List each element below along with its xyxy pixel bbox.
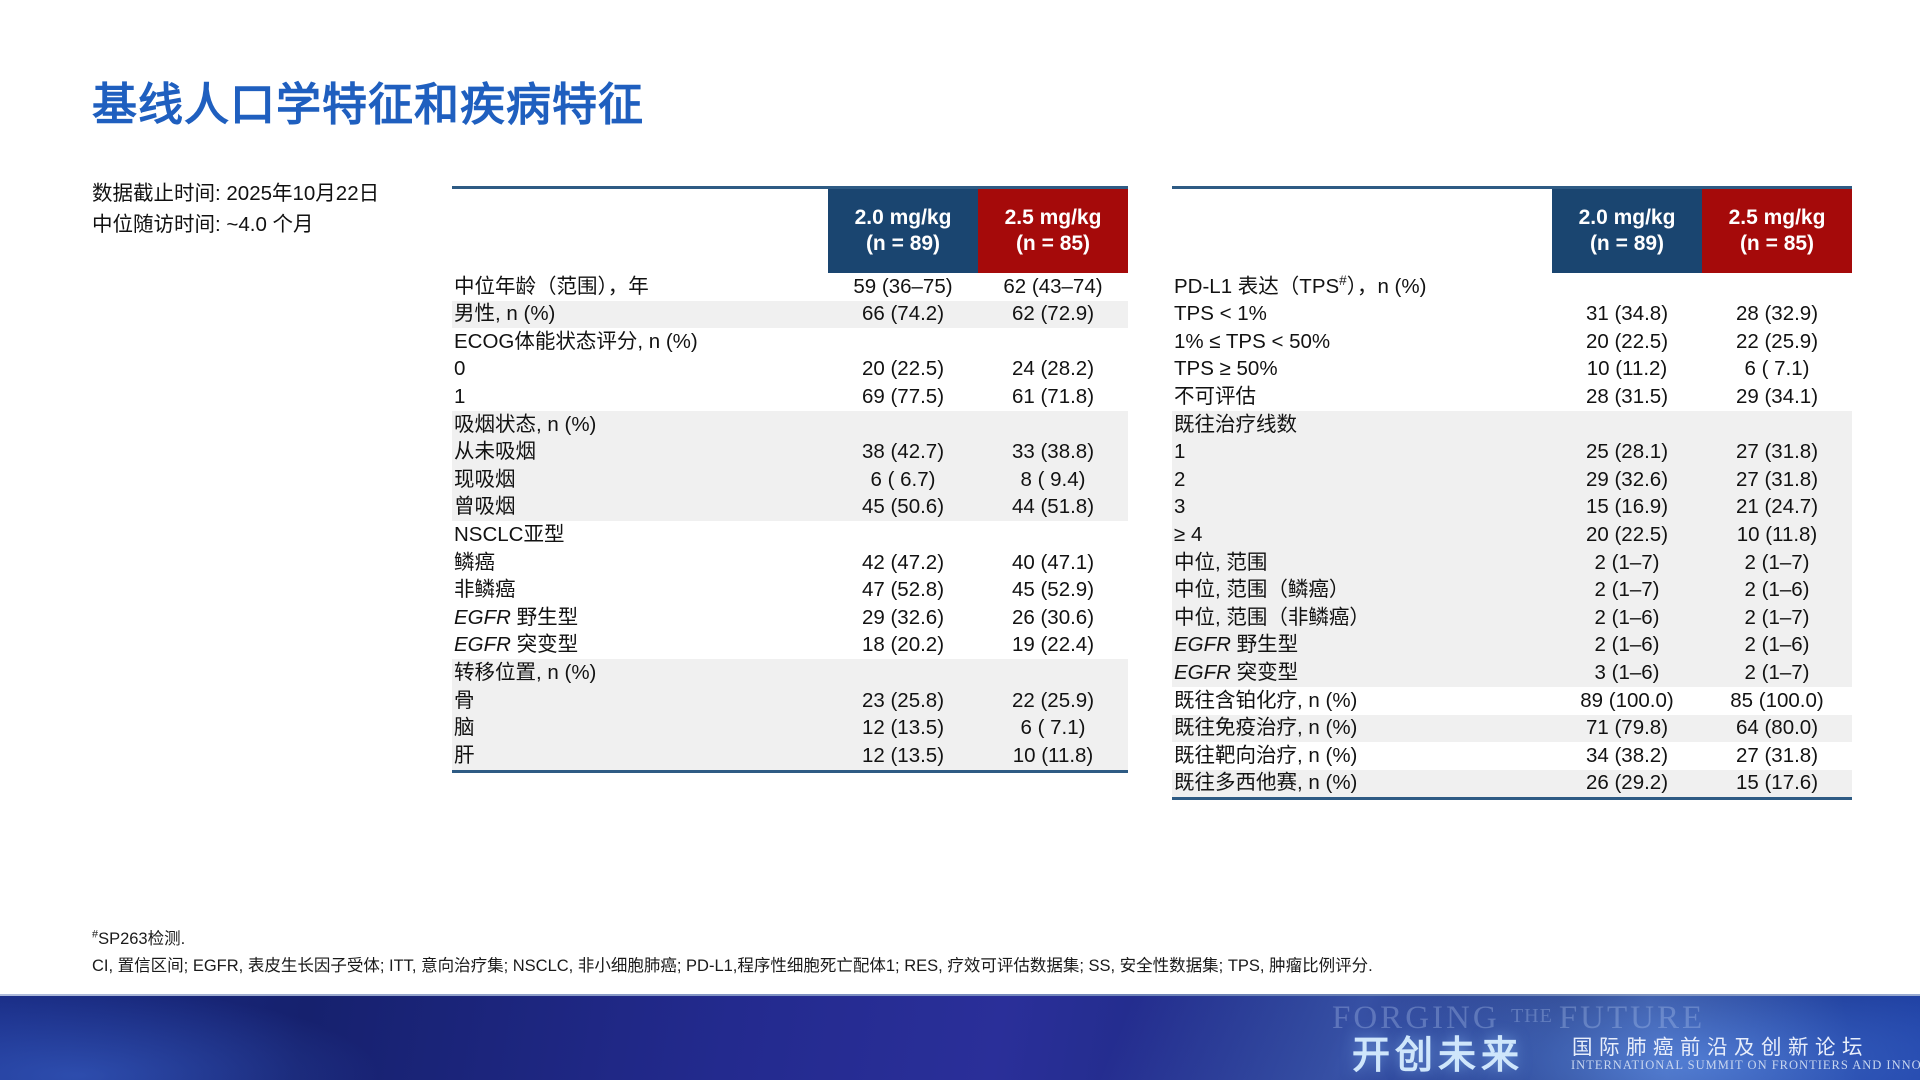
header-cell-dose-2-0-right: 2.0 mg/kg (n = 89) [1552, 189, 1702, 273]
table-row: 既往多西他赛, n (%)26 (29.2)15 (17.6) [1172, 770, 1852, 798]
header-cell-blank-left [452, 189, 828, 273]
table-row: ≥ 420 (22.5)10 (11.8) [1172, 521, 1852, 549]
row-label: EGFR 野生型 [1172, 632, 1552, 660]
row-label: 1 [452, 383, 828, 411]
table-row: TPS ≥ 50%10 (11.2)6 ( 7.1) [1172, 356, 1852, 384]
value-dose-2-0: 18 (20.2) [828, 632, 978, 660]
value-dose-2-0: 2 (1–7) [1552, 577, 1702, 605]
data-cutoff-block: 数据截止时间: 2025年10月22日 中位随访时间: ~4.0 个月 [92, 178, 379, 240]
table-row: EGFR 突变型3 (1–6)2 (1–7) [1172, 659, 1852, 687]
value-dose-2-5: 45 (52.9) [978, 577, 1128, 605]
value-dose-2-0: 20 (22.5) [1552, 521, 1702, 549]
footnotes: #SP263检测. CI, 置信区间; EGFR, 表皮生长因子受体; ITT,… [92, 926, 1373, 979]
row-label: EGFR 野生型 [452, 604, 828, 632]
value-dose-2-0: 23 (25.8) [828, 687, 978, 715]
row-label: 中位, 范围 [1172, 549, 1552, 577]
value-dose-2-5: 6 ( 7.1) [978, 715, 1128, 743]
value-dose-2-5: 24 (28.2) [978, 356, 1128, 384]
value-dose-2-0: 66 (74.2) [828, 301, 978, 329]
value-dose-2-5: 27 (31.8) [1702, 742, 1852, 770]
value-dose-2-5: 29 (34.1) [1702, 383, 1852, 411]
value-dose-2-5: 10 (11.8) [978, 742, 1128, 770]
footer-brand-band: FORGING THE FUTURE 开创未来 国际肺癌前沿及创新论坛 INTE… [0, 994, 1920, 1080]
table-row: TPS < 1%31 (34.8)28 (32.9) [1172, 301, 1852, 329]
table-row: 脑12 (13.5)6 ( 7.1) [452, 715, 1128, 743]
value-dose-2-5 [978, 521, 1128, 549]
header-cell-dose-2-5-right: 2.5 mg/kg (n = 85) [1702, 189, 1852, 273]
footer-brand-chinese: 开创未来 [1352, 1024, 1524, 1079]
row-label: 鳞癌 [452, 549, 828, 577]
value-dose-2-0: 89 (100.0) [1552, 687, 1702, 715]
value-dose-2-0: 25 (28.1) [1552, 439, 1702, 467]
median-followup: 中位随访时间: ~4.0 个月 [92, 209, 379, 240]
table-row: 169 (77.5)61 (71.8) [452, 383, 1128, 411]
value-dose-2-0: 71 (79.8) [1552, 715, 1702, 743]
row-label: 中位, 范围（非鳞癌） [1172, 604, 1552, 632]
row-label: 现吸烟 [452, 466, 828, 494]
value-dose-2-0: 12 (13.5) [828, 742, 978, 770]
table-row: ECOG体能状态评分, n (%) [452, 328, 1128, 356]
value-dose-2-5: 2 (1–6) [1702, 577, 1852, 605]
table-row: 既往免疫治疗, n (%)71 (79.8)64 (80.0) [1172, 715, 1852, 743]
value-dose-2-0: 15 (16.9) [1552, 494, 1702, 522]
table-row: 现吸烟6 ( 6.7)8 ( 9.4) [452, 466, 1128, 494]
table-row: 从未吸烟38 (42.7)33 (38.8) [452, 439, 1128, 467]
value-dose-2-5: 62 (72.9) [978, 301, 1128, 329]
table-row: 不可评估28 (31.5)29 (34.1) [1172, 383, 1852, 411]
row-label: 1 [1172, 439, 1552, 467]
value-dose-2-0: 45 (50.6) [828, 494, 978, 522]
value-dose-2-0: 69 (77.5) [828, 383, 978, 411]
value-dose-2-0: 29 (32.6) [1552, 466, 1702, 494]
table-row: 中位, 范围（鳞癌）2 (1–7)2 (1–6) [1172, 577, 1852, 605]
value-dose-2-5 [978, 328, 1128, 356]
value-dose-2-5 [978, 659, 1128, 687]
row-label: 既往治疗线数 [1172, 411, 1552, 439]
value-dose-2-0: 29 (32.6) [828, 604, 978, 632]
header-cell-dose-2-0-left: 2.0 mg/kg (n = 89) [828, 189, 978, 273]
value-dose-2-5: 19 (22.4) [978, 632, 1128, 660]
slide-root: 基线人口学特征和疾病特征 数据截止时间: 2025年10月22日 中位随访时间:… [0, 0, 1920, 1080]
table-row: 男性, n (%)66 (74.2)62 (72.9) [452, 301, 1128, 329]
table-row: 229 (32.6)27 (31.8) [1172, 466, 1852, 494]
footnote-abbreviations: CI, 置信区间; EGFR, 表皮生长因子受体; ITT, 意向治疗集; NS… [92, 953, 1373, 980]
row-label: 3 [1172, 494, 1552, 522]
superscript-marker: # [1339, 273, 1347, 288]
data-cutoff-date: 数据截止时间: 2025年10月22日 [92, 178, 379, 209]
value-dose-2-0: 59 (36–75) [828, 273, 978, 301]
row-label: 中位, 范围（鳞癌） [1172, 577, 1552, 605]
row-label: 非鳞癌 [452, 577, 828, 605]
value-dose-2-5: 10 (11.8) [1702, 521, 1852, 549]
value-dose-2-5 [1702, 273, 1852, 301]
table-row: 鳞癌42 (47.2)40 (47.1) [452, 549, 1128, 577]
value-dose-2-0 [828, 328, 978, 356]
value-dose-2-5: 61 (71.8) [978, 383, 1128, 411]
row-label: 0 [452, 356, 828, 384]
table-row: 骨23 (25.8)22 (25.9) [452, 687, 1128, 715]
value-dose-2-0: 31 (34.8) [1552, 301, 1702, 329]
footnote-line-1: #SP263检测. [92, 926, 1373, 953]
value-dose-2-0: 38 (42.7) [828, 439, 978, 467]
value-dose-2-5: 8 ( 9.4) [978, 466, 1128, 494]
row-label: 曾吸烟 [452, 494, 828, 522]
value-dose-2-5: 44 (51.8) [978, 494, 1128, 522]
table-row: 既往含铂化疗, n (%)89 (100.0)85 (100.0) [1172, 687, 1852, 715]
value-dose-2-0: 28 (31.5) [1552, 383, 1702, 411]
baseline-characteristics-table-left: 2.0 mg/kg (n = 89) 2.5 mg/kg (n = 85) 中位… [452, 186, 1128, 773]
table-row: 曾吸烟45 (50.6)44 (51.8) [452, 494, 1128, 522]
value-dose-2-5: 15 (17.6) [1702, 770, 1852, 798]
value-dose-2-5 [978, 411, 1128, 439]
row-label: 1% ≤ TPS < 50% [1172, 328, 1552, 356]
value-dose-2-5: 64 (80.0) [1702, 715, 1852, 743]
header-cell-blank-right [1172, 189, 1552, 273]
row-label: 既往免疫治疗, n (%) [1172, 715, 1552, 743]
table-row: 非鳞癌47 (52.8)45 (52.9) [452, 577, 1128, 605]
table-row: NSCLC亚型 [452, 521, 1128, 549]
row-label: 既往含铂化疗, n (%) [1172, 687, 1552, 715]
table-row: 既往靶向治疗, n (%)34 (38.2)27 (31.8) [1172, 742, 1852, 770]
footer-divider [0, 994, 1920, 996]
table-row: 315 (16.9)21 (24.7) [1172, 494, 1852, 522]
value-dose-2-5: 27 (31.8) [1702, 466, 1852, 494]
value-dose-2-0: 34 (38.2) [1552, 742, 1702, 770]
table-row: EGFR 野生型2 (1–6)2 (1–6) [1172, 632, 1852, 660]
value-dose-2-5: 2 (1–6) [1702, 632, 1852, 660]
value-dose-2-0 [1552, 411, 1702, 439]
baseline-characteristics-table-right: 2.0 mg/kg (n = 89) 2.5 mg/kg (n = 85) PD… [1172, 186, 1852, 800]
value-dose-2-5: 27 (31.8) [1702, 439, 1852, 467]
row-label: TPS ≥ 50% [1172, 356, 1552, 384]
table-row: EGFR 野生型29 (32.6)26 (30.6) [452, 604, 1128, 632]
table-row: 1% ≤ TPS < 50%20 (22.5)22 (25.9) [1172, 328, 1852, 356]
row-label: TPS < 1% [1172, 301, 1552, 329]
value-dose-2-5: 40 (47.1) [978, 549, 1128, 577]
value-dose-2-0: 47 (52.8) [828, 577, 978, 605]
value-dose-2-0: 10 (11.2) [1552, 356, 1702, 384]
value-dose-2-5: 26 (30.6) [978, 604, 1128, 632]
row-label: 骨 [452, 687, 828, 715]
footer-subtitle-chinese: 国际肺癌前沿及创新论坛 [1572, 1030, 1869, 1060]
table-row: 中位, 范围2 (1–7)2 (1–7) [1172, 549, 1852, 577]
row-label: 2 [1172, 466, 1552, 494]
row-label: 既往靶向治疗, n (%) [1172, 742, 1552, 770]
value-dose-2-5: 62 (43–74) [978, 273, 1128, 301]
value-dose-2-0 [828, 411, 978, 439]
table-row: 020 (22.5)24 (28.2) [452, 356, 1128, 384]
table-row: 吸烟状态, n (%) [452, 411, 1128, 439]
row-label: PD-L1 表达（TPS#），n (%) [1172, 273, 1552, 301]
value-dose-2-0: 6 ( 6.7) [828, 466, 978, 494]
row-label: 肝 [452, 742, 828, 770]
page-title: 基线人口学特征和疾病特征 [92, 68, 644, 133]
value-dose-2-0: 20 (22.5) [1552, 328, 1702, 356]
value-dose-2-0: 3 (1–6) [1552, 659, 1702, 687]
row-label: 男性, n (%) [452, 301, 828, 329]
table-row: 既往治疗线数 [1172, 411, 1852, 439]
value-dose-2-0 [828, 521, 978, 549]
footer-subtitle-english: INTERNATIONAL SUMMIT ON FRONTIERS AND IN… [1571, 1058, 1920, 1073]
header-cell-dose-2-5-left: 2.5 mg/kg (n = 85) [978, 189, 1128, 273]
value-dose-2-5: 21 (24.7) [1702, 494, 1852, 522]
row-label: 中位年龄（范围），年 [452, 273, 828, 301]
table-row: EGFR 突变型18 (20.2)19 (22.4) [452, 632, 1128, 660]
value-dose-2-0: 2 (1–6) [1552, 604, 1702, 632]
table-row: 肝12 (13.5)10 (11.8) [452, 742, 1128, 770]
row-label: 脑 [452, 715, 828, 743]
value-dose-2-0: 20 (22.5) [828, 356, 978, 384]
row-label: EGFR 突变型 [452, 632, 828, 660]
value-dose-2-5: 2 (1–7) [1702, 604, 1852, 632]
value-dose-2-5: 33 (38.8) [978, 439, 1128, 467]
value-dose-2-0: 42 (47.2) [828, 549, 978, 577]
table-row: 125 (28.1)27 (31.8) [1172, 439, 1852, 467]
value-dose-2-5: 28 (32.9) [1702, 301, 1852, 329]
value-dose-2-5: 22 (25.9) [1702, 328, 1852, 356]
value-dose-2-5 [1702, 411, 1852, 439]
value-dose-2-5: 2 (1–7) [1702, 549, 1852, 577]
table-row: 中位年龄（范围），年59 (36–75)62 (43–74) [452, 273, 1128, 301]
row-label: ≥ 4 [1172, 521, 1552, 549]
row-label: NSCLC亚型 [452, 521, 828, 549]
value-dose-2-0 [828, 659, 978, 687]
value-dose-2-5: 6 ( 7.1) [1702, 356, 1852, 384]
row-label: EGFR 突变型 [1172, 659, 1552, 687]
table-row: PD-L1 表达（TPS#），n (%) [1172, 273, 1852, 301]
value-dose-2-0: 2 (1–6) [1552, 632, 1702, 660]
row-label: ECOG体能状态评分, n (%) [452, 328, 828, 356]
row-label: 转移位置, n (%) [452, 659, 828, 687]
table-row: 中位, 范围（非鳞癌）2 (1–6)2 (1–7) [1172, 604, 1852, 632]
row-label: 既往多西他赛, n (%) [1172, 770, 1552, 798]
value-dose-2-5: 2 (1–7) [1702, 659, 1852, 687]
table-header-row-right: 2.0 mg/kg (n = 89) 2.5 mg/kg (n = 85) [1172, 189, 1852, 273]
value-dose-2-5: 85 (100.0) [1702, 687, 1852, 715]
row-label: 从未吸烟 [452, 439, 828, 467]
table-header-row-left: 2.0 mg/kg (n = 89) 2.5 mg/kg (n = 85) [452, 189, 1128, 273]
value-dose-2-5: 22 (25.9) [978, 687, 1128, 715]
row-label: 吸烟状态, n (%) [452, 411, 828, 439]
value-dose-2-0 [1552, 273, 1702, 301]
value-dose-2-0: 26 (29.2) [1552, 770, 1702, 798]
table-row: 转移位置, n (%) [452, 659, 1128, 687]
row-label: 不可评估 [1172, 383, 1552, 411]
value-dose-2-0: 12 (13.5) [828, 715, 978, 743]
value-dose-2-0: 2 (1–7) [1552, 549, 1702, 577]
